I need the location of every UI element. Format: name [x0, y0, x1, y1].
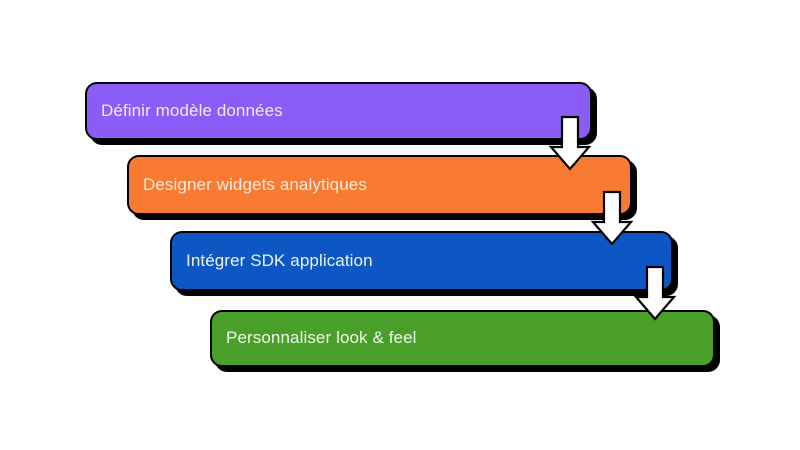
process-step-4[interactable]: Personnaliser look & feel [210, 310, 715, 367]
diagram-canvas: Définir modèle données Designer widgets … [0, 0, 800, 450]
process-step-4-label: Personnaliser look & feel [212, 329, 417, 348]
process-step-1-label: Définir modèle données [87, 102, 283, 121]
process-step-2-label: Designer widgets analytiques [129, 176, 367, 195]
process-step-3[interactable]: Intégrer SDK application [170, 231, 673, 291]
process-step-3-label: Intégrer SDK application [172, 252, 373, 271]
process-step-2[interactable]: Designer widgets analytiques [127, 155, 632, 215]
process-step-1[interactable]: Définir modèle données [85, 82, 592, 140]
